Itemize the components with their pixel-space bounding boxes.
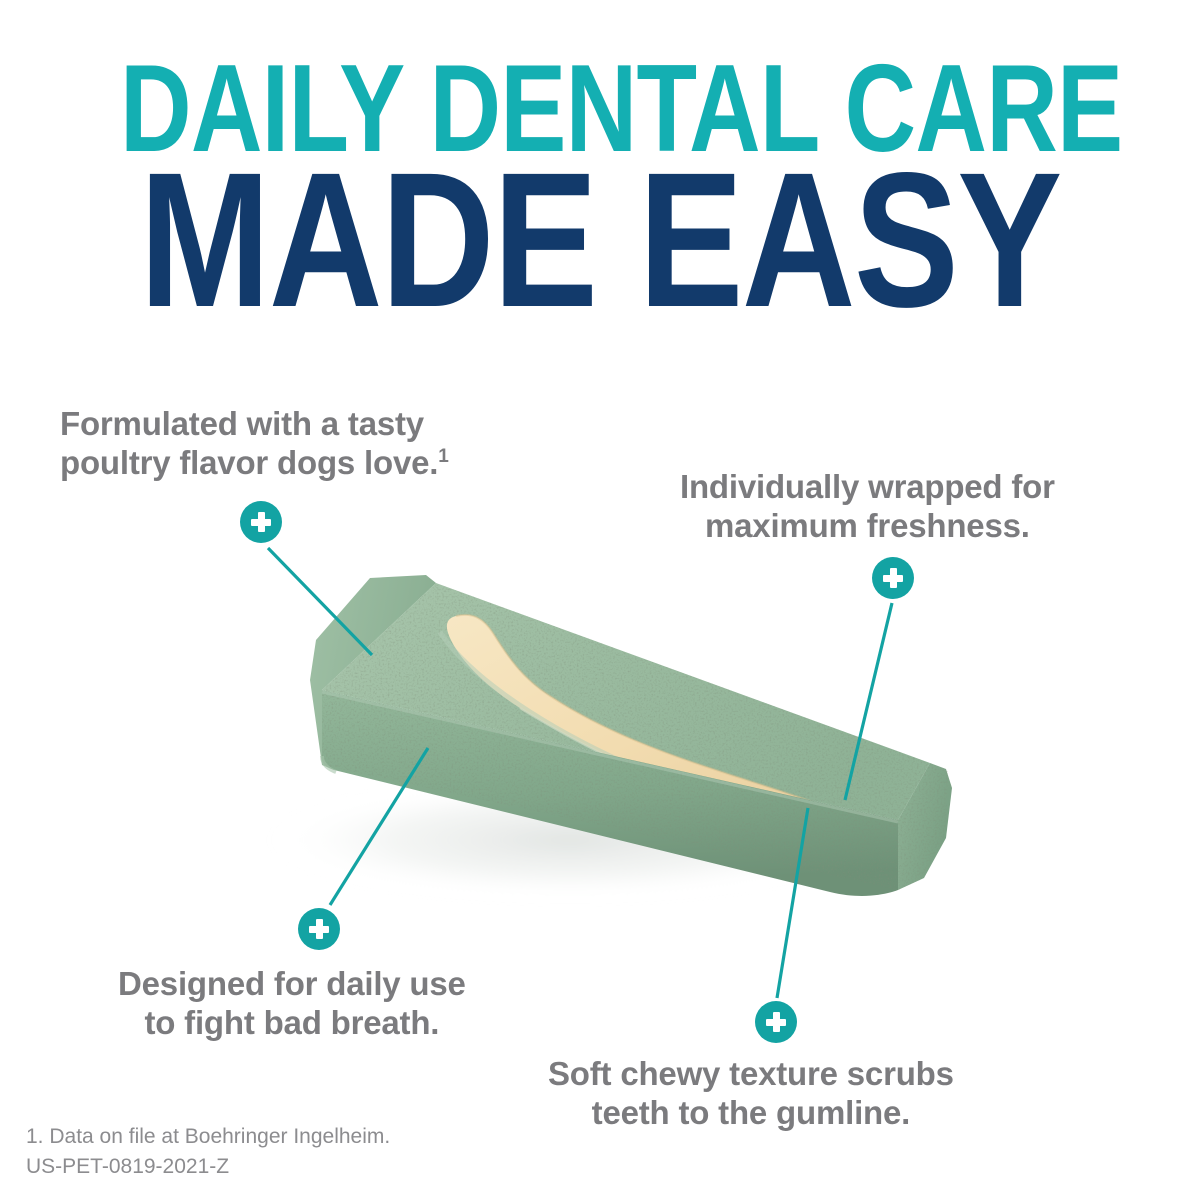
callout-texture-line-1: Soft chewy texture scrubs [548,1055,954,1094]
callout-daily: Designed for daily use to fight bad brea… [118,965,466,1043]
callout-wrapped-line-1: Individually wrapped for [680,468,1055,507]
callout-texture-line-2: teeth to the gumline. [548,1094,954,1133]
headline-line-2: MADE EASY [108,152,1092,329]
callout-texture: Soft chewy texture scrubs teeth to the g… [548,1055,954,1133]
footnote-reference: 1 [438,446,448,467]
callout-daily-line-2: to fight bad breath. [118,1004,466,1043]
plus-icon-flavor[interactable] [240,501,282,543]
callout-flavor-line-1: Formulated with a tasty [60,405,449,444]
plus-icon-daily[interactable] [298,908,340,950]
infographic-page: DAILY DENTAL CARE MADE EASY [0,0,1200,1200]
callout-wrapped-line-2: maximum freshness. [680,507,1055,546]
callout-wrapped: Individually wrapped for maximum freshne… [680,468,1055,546]
plus-icon-texture[interactable] [755,1001,797,1043]
footnote-line-1: 1. Data on file at Boehringer Ingelheim. [26,1122,390,1152]
plus-icon-wrapped[interactable] [872,557,914,599]
callout-flavor-line-2-text: poultry flavor dogs love. [60,444,438,481]
page-title: DAILY DENTAL CARE MADE EASY [0,52,1200,329]
footnote-line-2: US-PET-0819-2021-Z [26,1152,390,1182]
callout-flavor-line-2: poultry flavor dogs love.1 [60,444,449,483]
callout-flavor: Formulated with a tasty poultry flavor d… [60,405,449,483]
footnote: 1. Data on file at Boehringer Ingelheim.… [26,1122,390,1182]
callout-daily-line-1: Designed for daily use [118,965,466,1004]
